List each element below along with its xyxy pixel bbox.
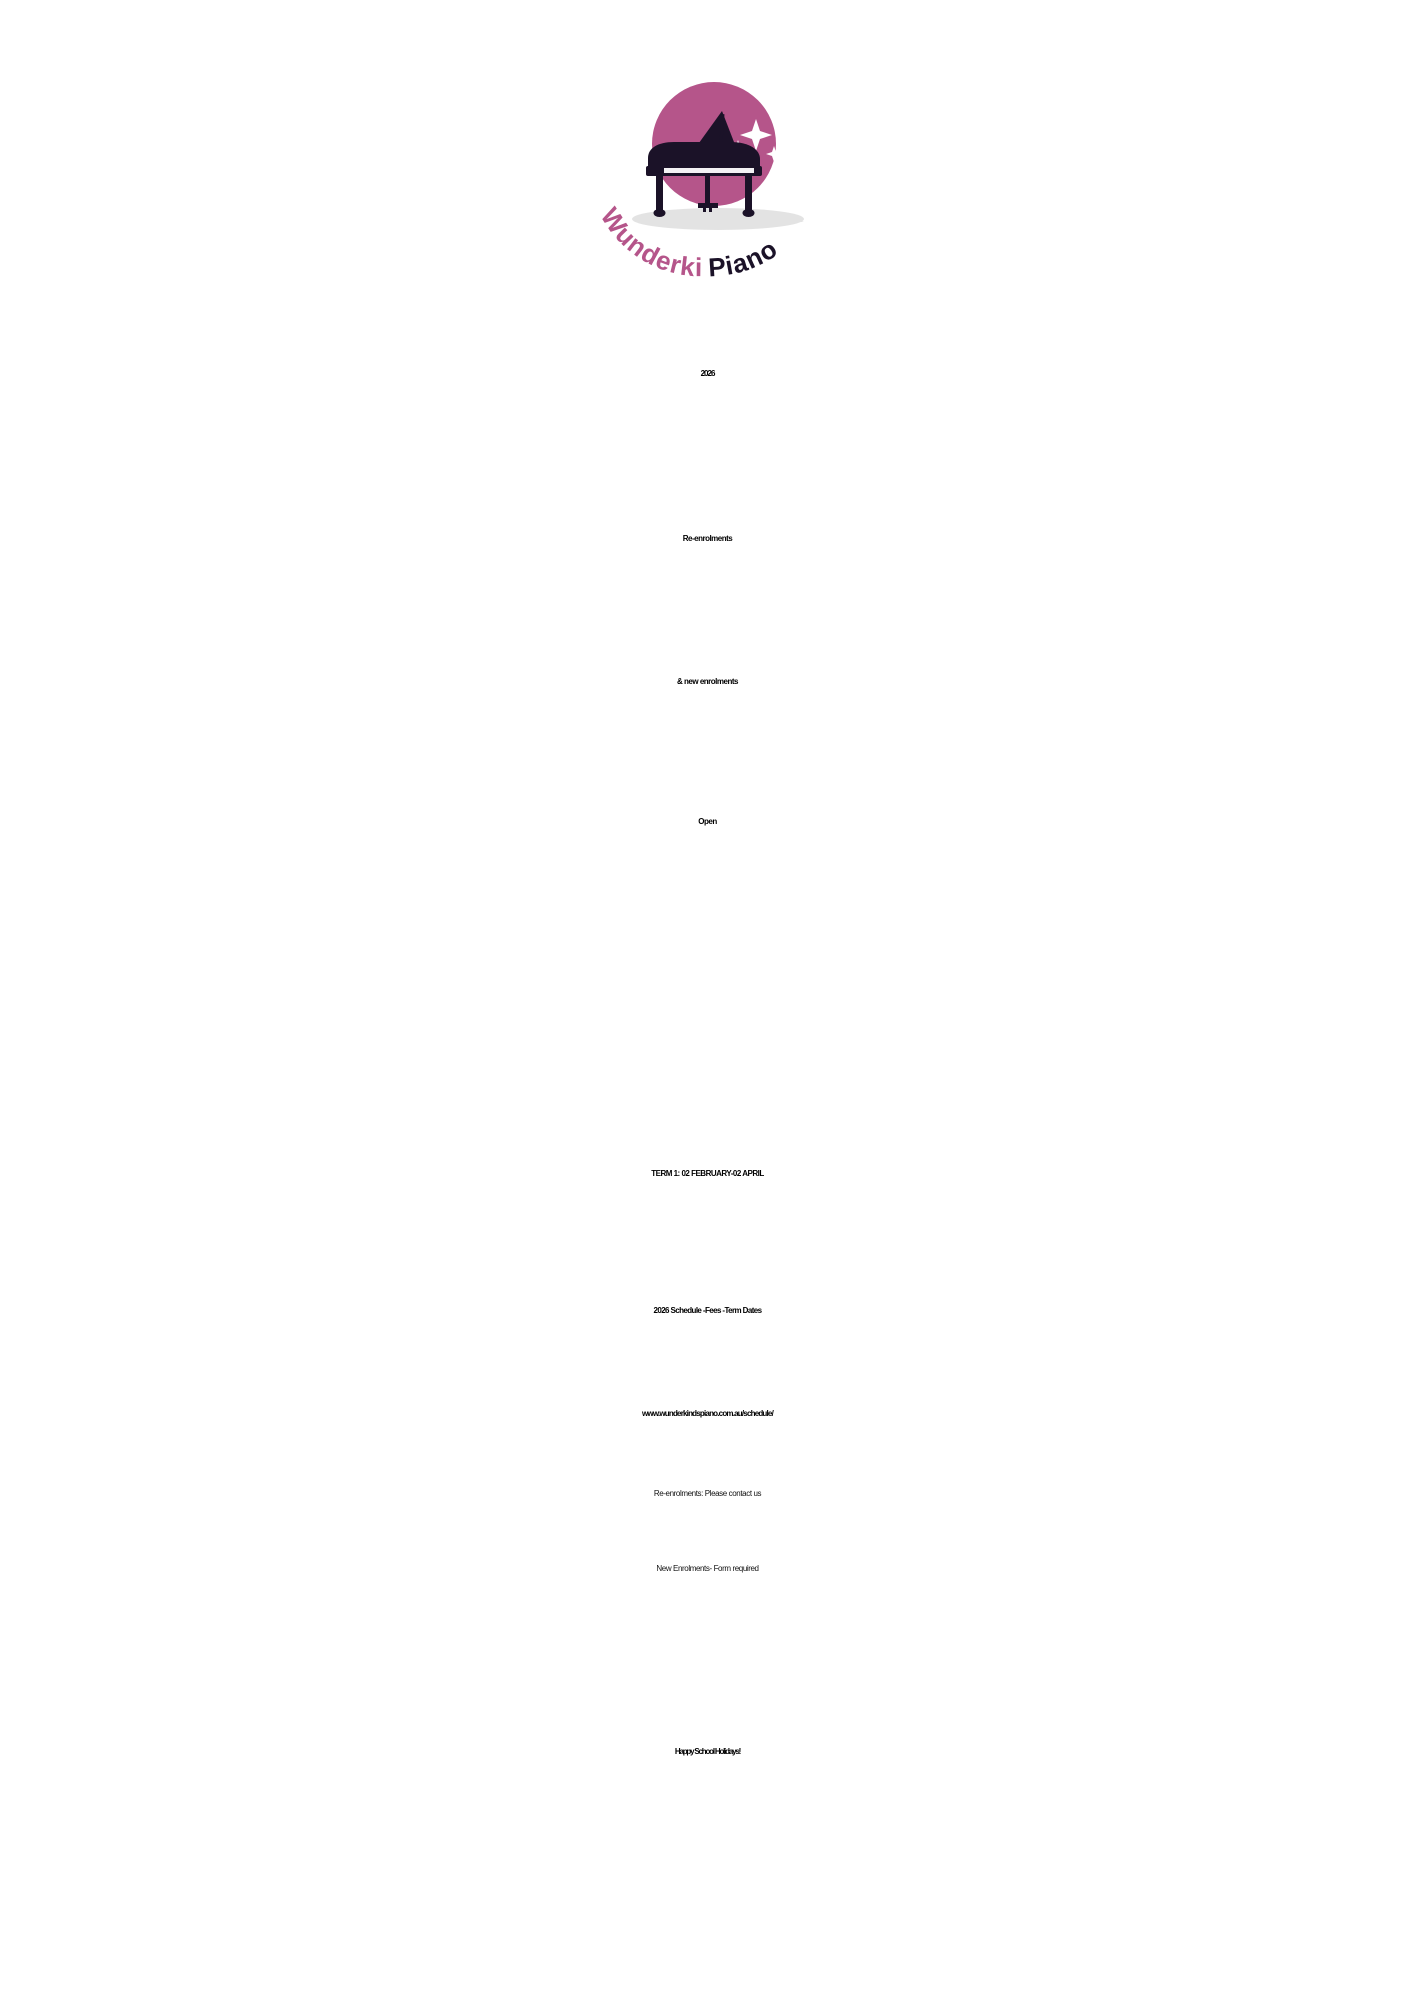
note-re-enrolments: Re-enrolments: Please contact us [0, 1490, 1415, 1498]
headline-open: Open [0, 818, 1415, 826]
headline-new-enrolments: & new enrolments [0, 678, 1415, 686]
term-dates-line: TERM 1: 02 FEBRUARY-02 APRIL [0, 1170, 1415, 1178]
logo-brand-word-piano: Piano [707, 233, 783, 277]
schedule-url-link[interactable]: www.wunderkindspiano.com.au/schedule/ [0, 1410, 1415, 1418]
happy-school-holidays-message: Happy School Holidays! [0, 1748, 1415, 1756]
headline-re-enrolments: Re-enrolments [0, 535, 1415, 543]
note-new-enrolments: New Enrolments- Form required [0, 1565, 1415, 1573]
logo-container: Wunderkinds Piano [0, 62, 1415, 282]
schedule-fees-term-dates-line: 2026 Schedule -Fees -Term Dates [0, 1307, 1415, 1315]
headline-year: 2026 [0, 370, 1415, 378]
wunderkinds-piano-logo: Wunderkinds Piano [578, 62, 838, 277]
poster-canvas: Wunderkinds Piano 2026 Re-enrolments & n… [0, 0, 1415, 2000]
